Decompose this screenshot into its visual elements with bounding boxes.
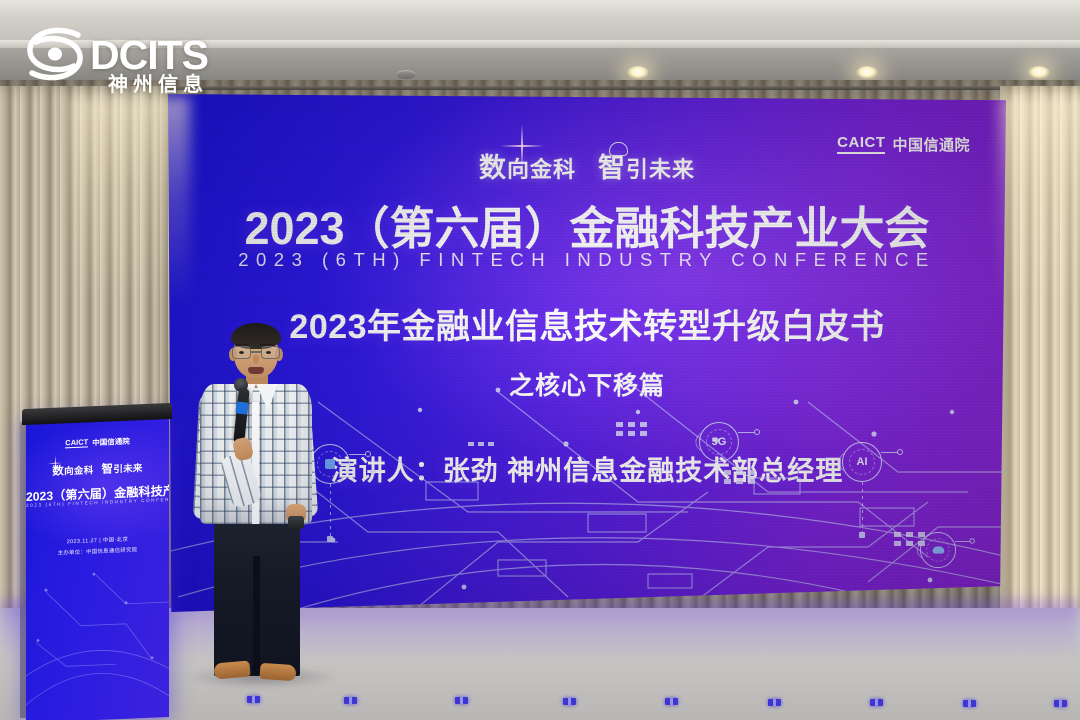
floor-marker (963, 700, 976, 707)
shoe-left (213, 660, 250, 679)
podium-circuit-decoration (26, 567, 169, 720)
downlight-icon (1028, 66, 1050, 79)
tagline-part2-big: 智 (598, 146, 626, 185)
floor-marker (563, 698, 576, 705)
ceiling-band (0, 0, 1080, 16)
podium: CAICT 中国信通院 数向金科智引未来 2023（第六届）金融科技产业大会 2… (20, 406, 172, 720)
floor-marker (870, 699, 883, 706)
icon-stem (330, 484, 331, 536)
ai-circle-icon: AI (842, 442, 882, 482)
podium-caict-name: 中国信通院 (92, 436, 130, 449)
light-wash (70, 96, 190, 306)
microphone-flag-tag (235, 401, 248, 414)
icon-stem (862, 482, 863, 532)
speaker-person (196, 326, 316, 672)
conference-stage-photo: CAICT 中国信通院 数向金科智引未来 2023（第六届）金融科技产业大会 2… (0, 0, 1080, 720)
dcits-hall-logo: DCITS 神州信息 (22, 16, 227, 88)
leg-separation (253, 556, 260, 674)
podium-caict-mark: CAICT (65, 439, 88, 448)
shoe-right (259, 663, 296, 681)
icon-node (327, 536, 333, 542)
eye-left (239, 351, 244, 354)
podium-tagline-small2: 引未来 (113, 463, 142, 475)
floor-marker (1054, 700, 1067, 707)
downlight-icon (627, 66, 649, 79)
dcits-brand-cn: 神州信息 (108, 68, 208, 97)
presentation-clicker-icon (288, 516, 304, 529)
cloud-circle-icon (920, 532, 956, 568)
5g-circle-icon: 5G (699, 422, 739, 462)
chip-circle-icon (310, 444, 350, 484)
nose (253, 355, 259, 364)
tagline-part2-small: 引未来 (626, 157, 695, 182)
floor-marker (455, 697, 468, 704)
podium-tagline-big2: 智 (102, 463, 114, 475)
tagline-part1-small: 向金科 (507, 157, 576, 182)
tagline-part1-big: 数 (479, 153, 507, 183)
shirt-placket (252, 402, 259, 524)
dcits-swoosh-logo-icon (22, 26, 88, 82)
floor-marker (768, 699, 781, 706)
downlight-icon (856, 66, 878, 79)
screen-tagline: 数向金科智引未来 (168, 146, 1006, 185)
floor-marker (344, 697, 357, 704)
conference-title-cn: 2023（第六届）金融科技产业大会 (168, 192, 1006, 257)
conference-title-en: 2023 (6TH) FINTECH INDUSTRY CONFERENCE (168, 249, 1006, 271)
floor-marker (665, 698, 678, 705)
eye-right (266, 351, 271, 354)
podium-tagline-big1: 数 (52, 465, 64, 477)
light-wash (1000, 96, 1080, 306)
podium-front-panel: CAICT 中国信通院 数向金科智引未来 2023（第六届）金融科技产业大会 2… (26, 417, 169, 720)
ceiling-vent-icon (396, 70, 416, 79)
floor-marker (247, 696, 260, 703)
icon-node (859, 532, 865, 538)
podium-tagline-small1: 向金科 (64, 465, 93, 477)
mouth (248, 367, 264, 374)
